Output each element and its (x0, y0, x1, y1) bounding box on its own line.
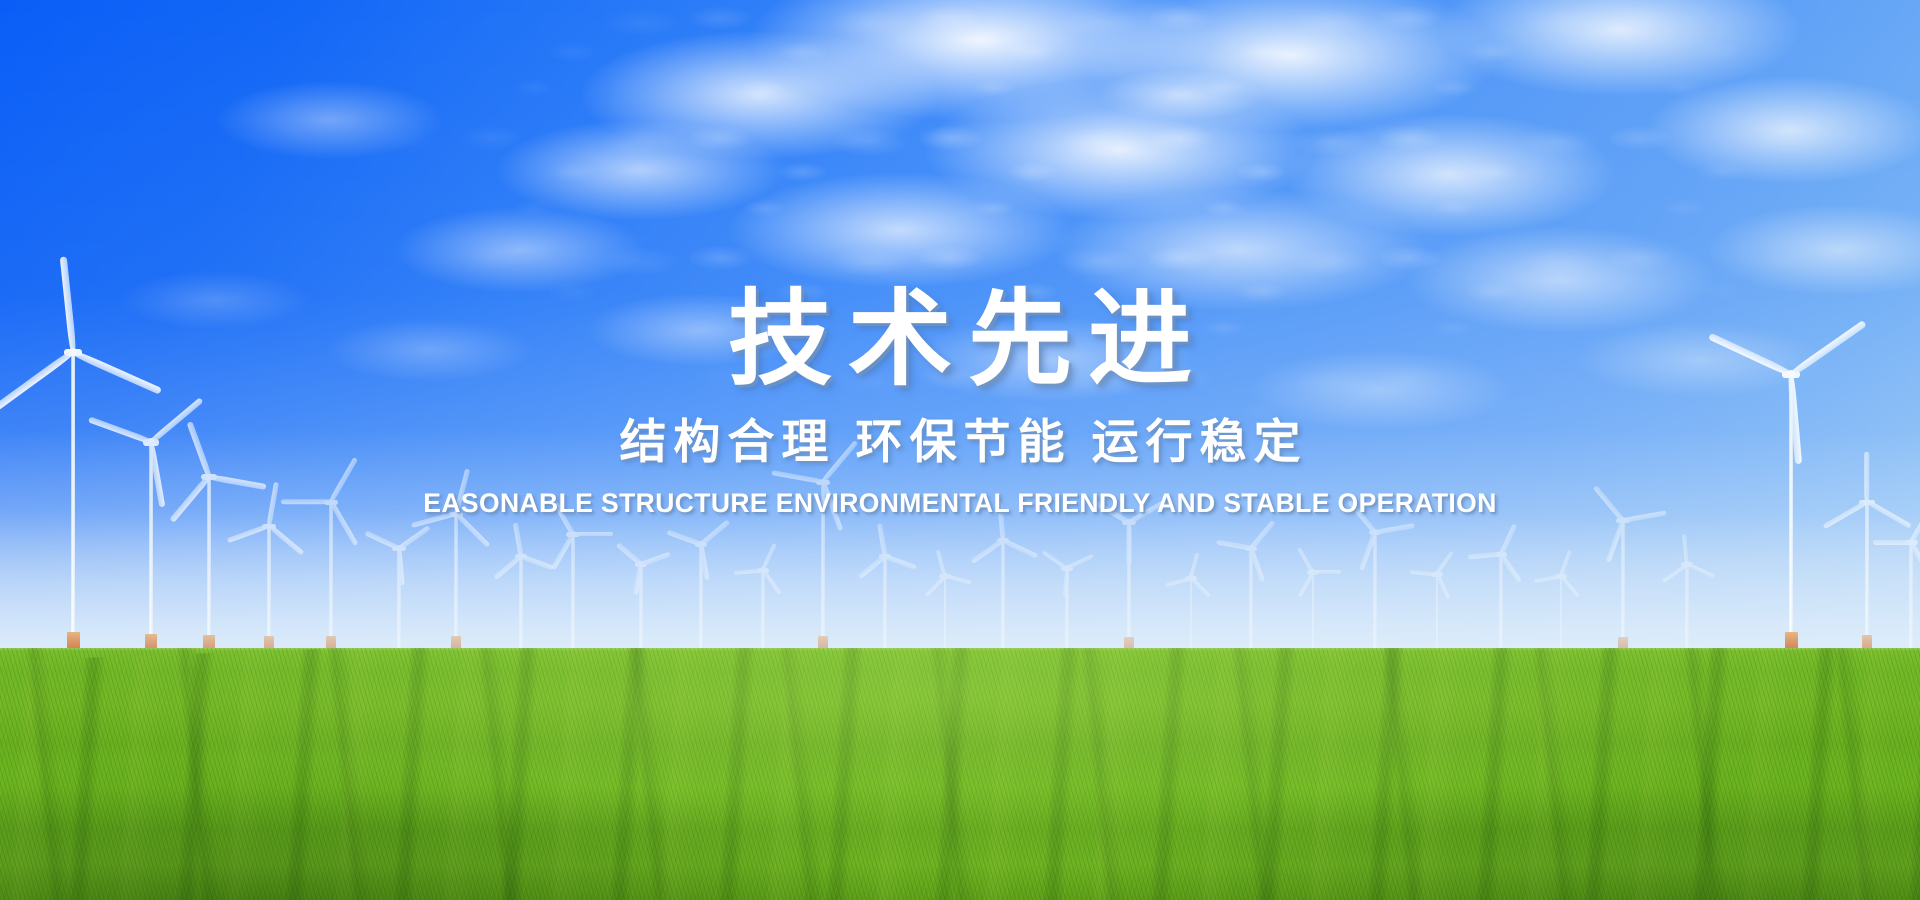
hero-banner: 技术先进 结构合理 环保节能 运行稳定 EASONABLE STRUCTURE … (0, 0, 1920, 900)
grass-vignette (0, 648, 1920, 900)
grass-field (0, 648, 1920, 900)
sky-background (0, 0, 1920, 652)
